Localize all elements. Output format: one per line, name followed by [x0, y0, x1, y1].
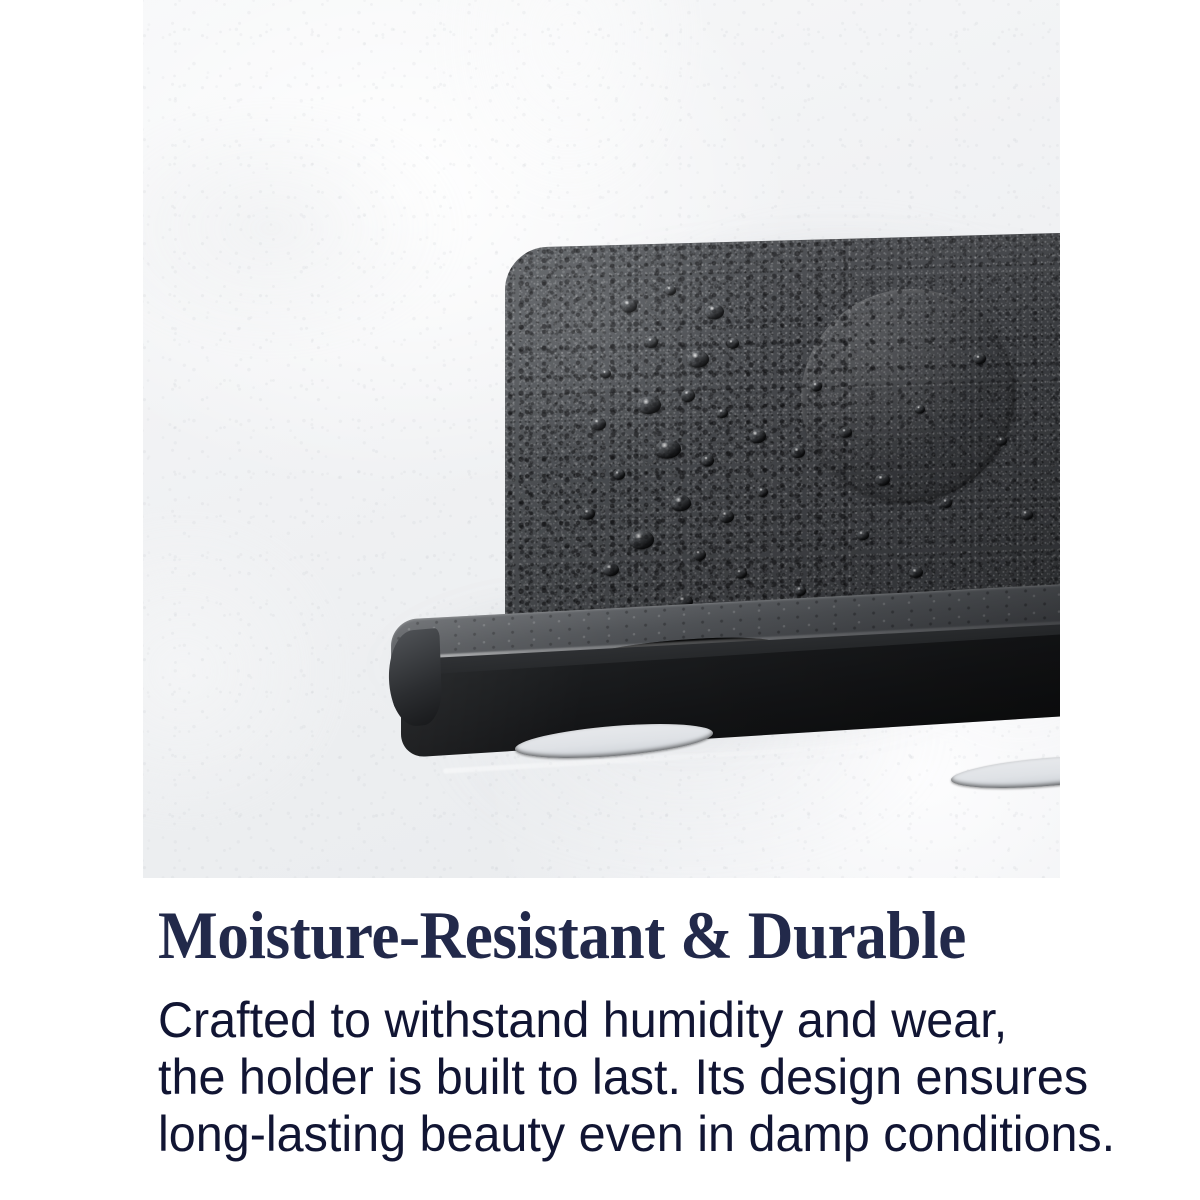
embossed-circular-pad: [801, 286, 1015, 506]
micro-droplet-mist-dense: [505, 239, 852, 640]
plate-powder-coat-texture: [505, 233, 1060, 640]
body-copy-line-2: the holder is built to last. Its design …: [158, 1049, 1031, 1106]
shelf-holder-product: [143, 0, 1060, 878]
water-droplet-field: [505, 233, 1060, 640]
body-copy-line-3: long-lasting beauty even in damp conditi…: [158, 1106, 1031, 1163]
body-copy-line-1: Crafted to withstand humidity and wear,: [158, 992, 1031, 1049]
product-feature-card: Moisture-Resistant & Durable Crafted to …: [0, 0, 1200, 1200]
shelf-left-rounded-tip: [387, 628, 442, 728]
back-plate: [505, 233, 1060, 640]
headline: Moisture-Resistant & Durable: [158, 898, 995, 972]
drainage-slot-through-right: [951, 750, 1060, 793]
caption-block: Moisture-Resistant & Durable Crafted to …: [158, 898, 1058, 1163]
product-photo: [143, 0, 1060, 878]
micro-droplet-mist: [505, 233, 1060, 640]
body-copy: Crafted to withstand humidity and wear, …: [158, 992, 1031, 1163]
